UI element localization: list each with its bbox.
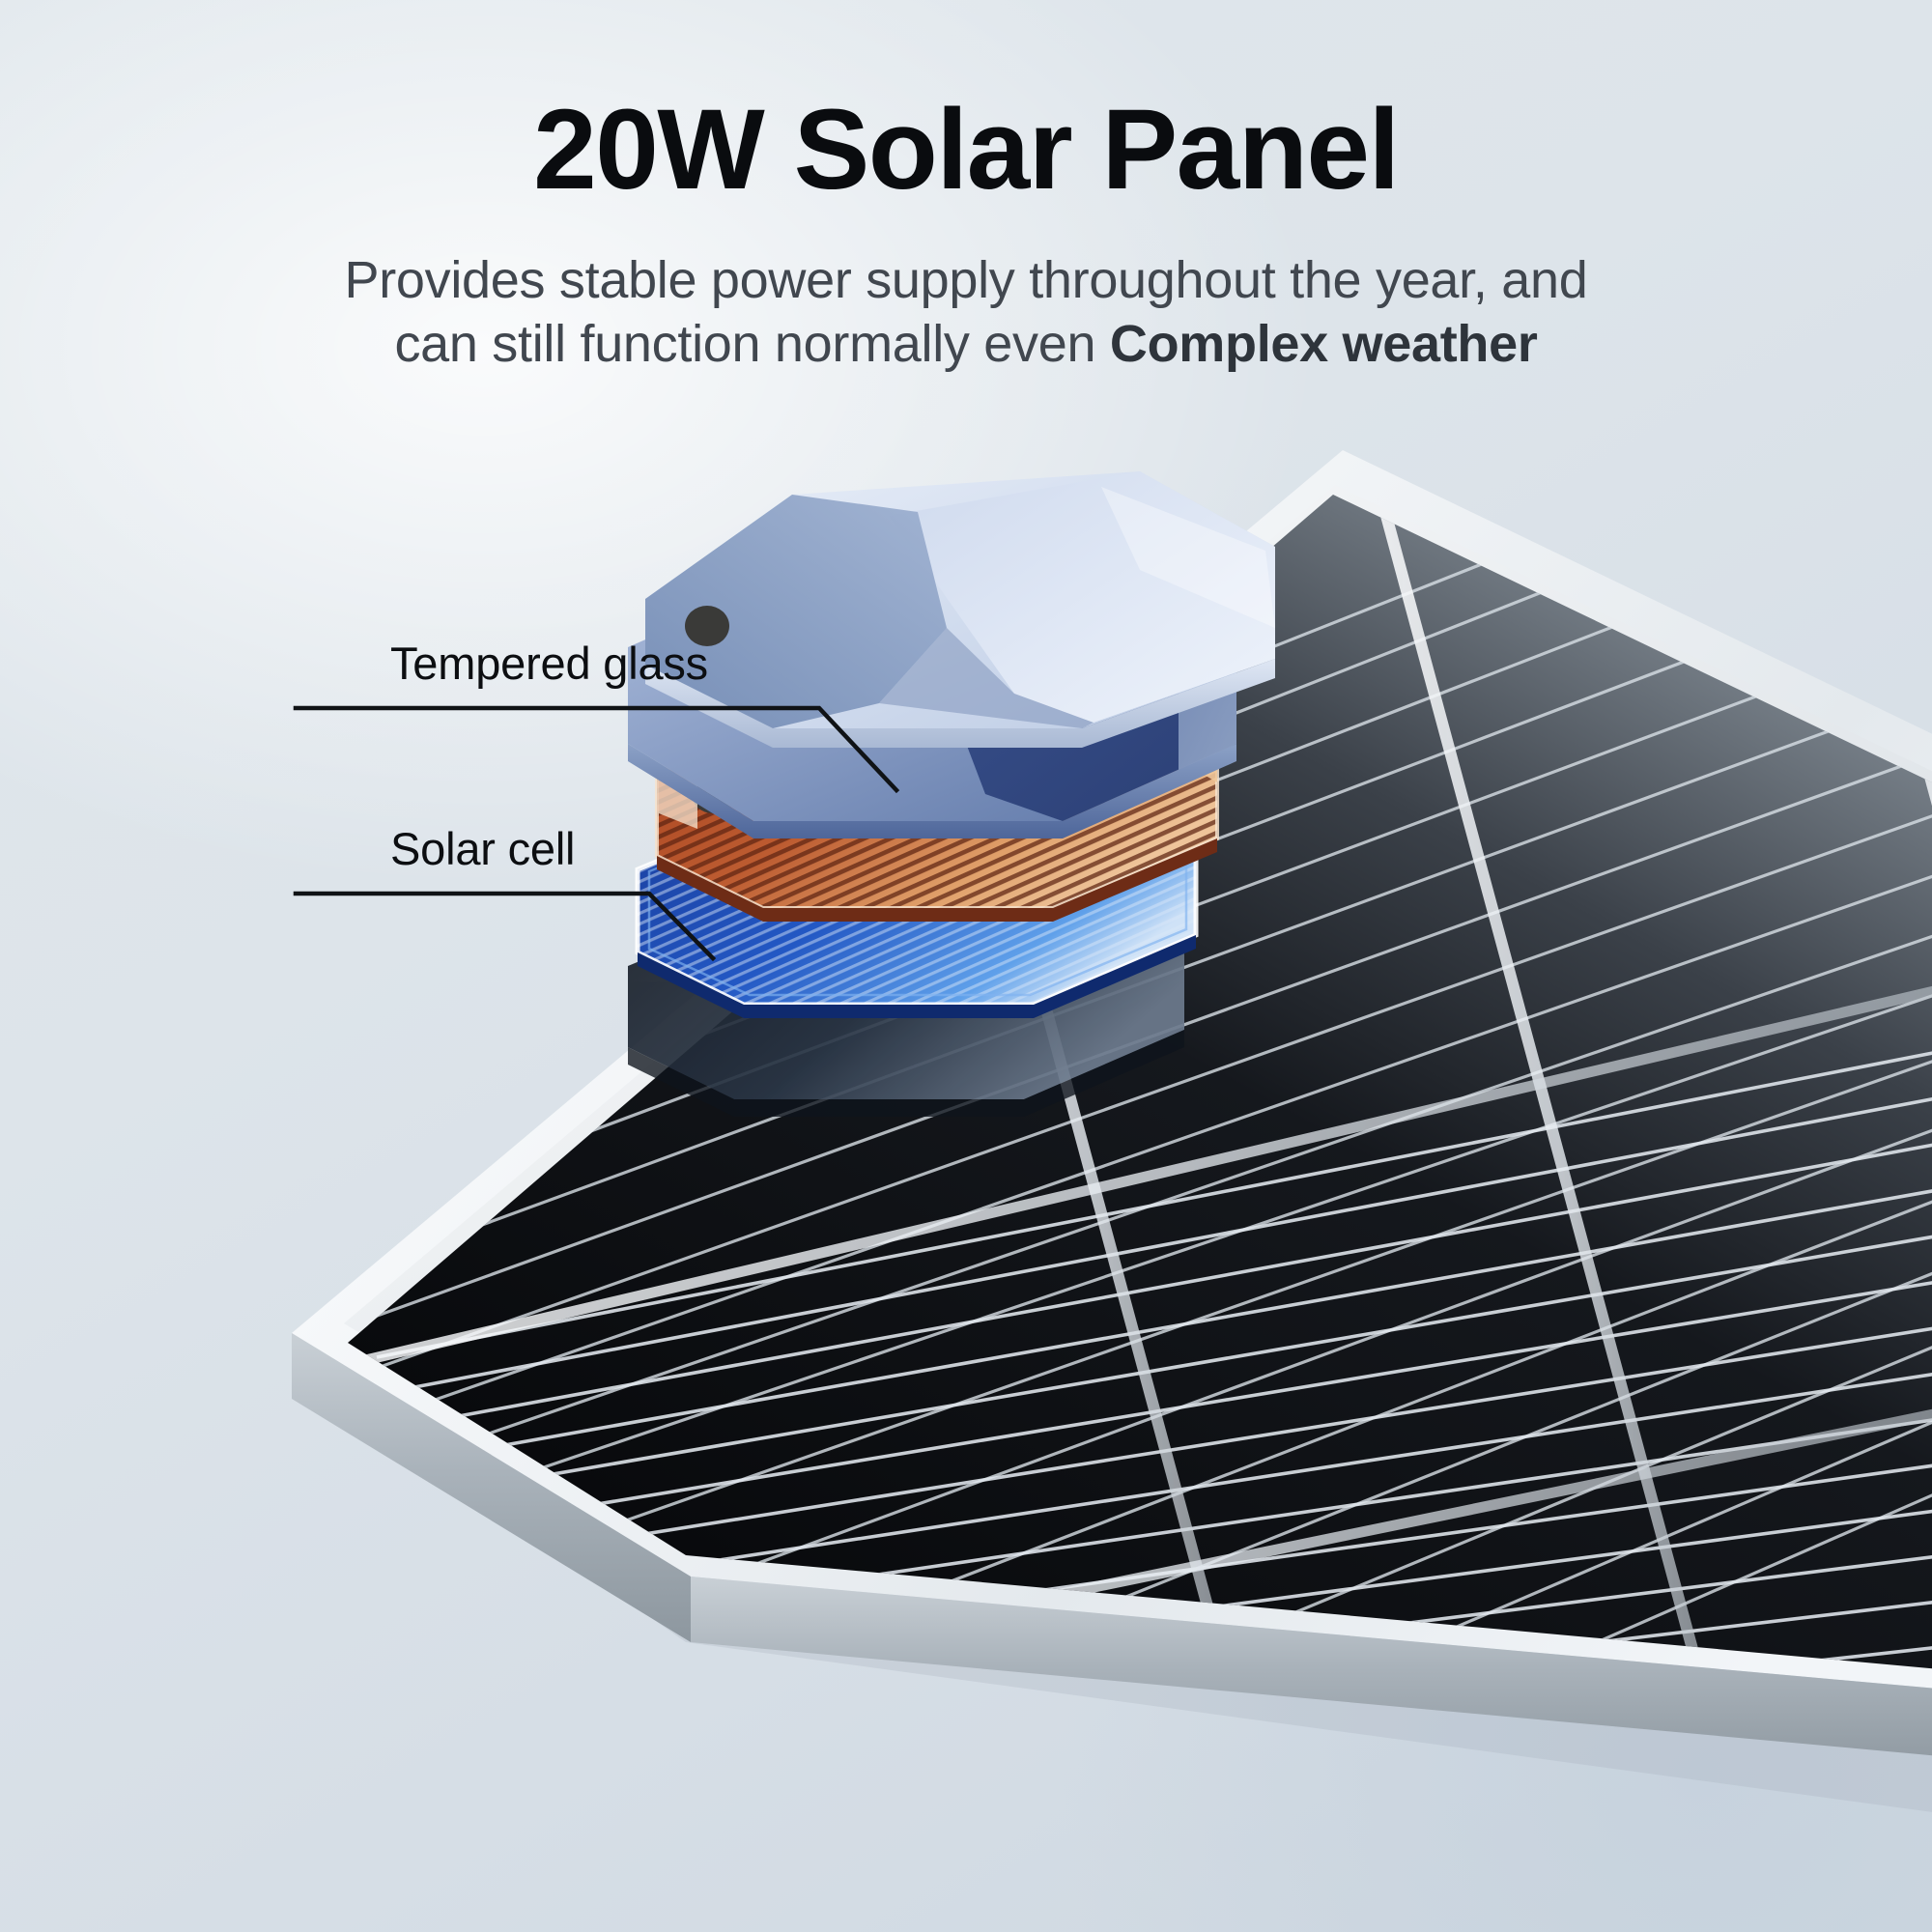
product-subtitle: Provides stable power supply throughout … bbox=[0, 249, 1932, 377]
callout-label-solar-cell[interactable]: Solar cell bbox=[390, 826, 575, 871]
exploded-layer-stack bbox=[599, 454, 1352, 1092]
headline-block: 20W Solar Panel Provides stable power su… bbox=[0, 93, 1932, 377]
subtitle-line-2-prefix: can still function normally even bbox=[394, 315, 1109, 373]
page-title: 20W Solar Panel bbox=[0, 93, 1932, 207]
subtitle-line-1: Provides stable power supply throughout … bbox=[0, 249, 1932, 313]
layer-tempered-glass bbox=[645, 471, 1275, 748]
subtitle-emphasis: Complex weather bbox=[1110, 315, 1538, 373]
subtitle-line-2: can still function normally even Complex… bbox=[0, 313, 1932, 377]
callout-label-tempered-glass[interactable]: Tempered glass bbox=[390, 640, 708, 686]
exploded-layers-illustration bbox=[599, 454, 1352, 1092]
product-hero-scene: 20W Solar Panel Provides stable power su… bbox=[0, 0, 1932, 1932]
